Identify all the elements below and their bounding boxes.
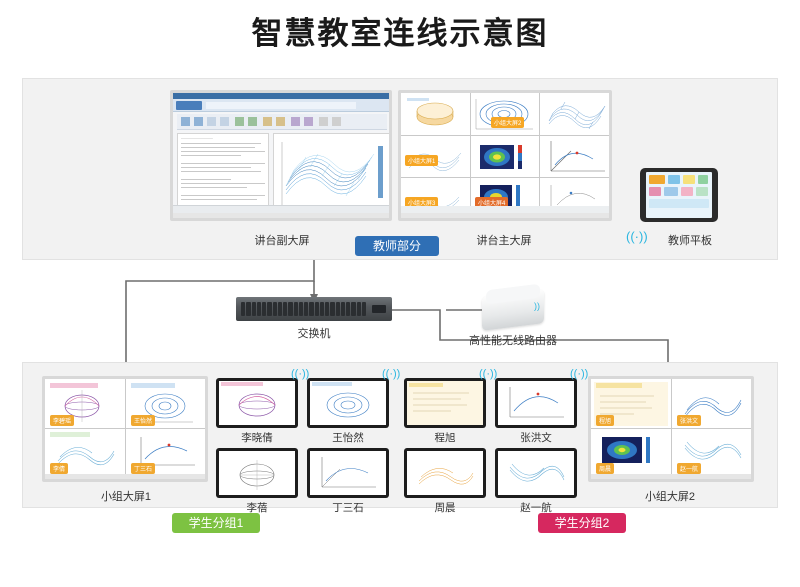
student-label-4: 丁三石 xyxy=(307,500,389,515)
student-label-1: 李晓倩 xyxy=(216,430,298,445)
group1-big-screen[interactable]: 李碧瑶 王怡然 xyxy=(42,376,208,482)
group1-big-screen-caption: 小组大屏1 xyxy=(78,488,174,504)
group1-tile-name-1: 李碧瑶 xyxy=(50,415,74,426)
group2-tile-name-1: 程旭 xyxy=(596,415,614,426)
switch-ports xyxy=(241,302,366,316)
teacher-tablet-caption: 教师平板 xyxy=(650,232,730,248)
student-monitor-zhouchen[interactable] xyxy=(404,448,486,498)
podium-tile-label-1: 小组大屏1 xyxy=(405,155,438,166)
wifi-icon-student-6: ((·)) xyxy=(570,369,588,380)
student-monitor-wangyiran[interactable] xyxy=(307,378,389,428)
wifi-icon-router: )) xyxy=(534,301,540,311)
group2-tile-name-3: 周晨 xyxy=(596,463,614,474)
student-monitor-libei[interactable] xyxy=(216,448,298,498)
podium-secondary-screen-caption: 讲台副大屏 xyxy=(230,232,334,248)
teacher-tablet[interactable] xyxy=(640,168,718,222)
podium-main-screen-caption: 讲台主大屏 xyxy=(452,232,556,248)
group2-big-screen[interactable]: 程旭 张洪文 周晨 xyxy=(588,376,754,482)
podium-secondary-screen[interactable]: ─────────────── xyxy=(170,90,392,221)
page-title: 智慧教室连线示意图 xyxy=(0,8,800,53)
switch-label: 交换机 xyxy=(272,325,356,341)
group2-tile-name-4: 赵一航 xyxy=(677,463,701,474)
podium-main-screen[interactable]: 小组大屏1 xyxy=(398,90,612,221)
group2-big-screen-caption: 小组大屏2 xyxy=(622,488,718,504)
student-label-6: 张洪文 xyxy=(495,430,577,445)
diagram-root: 智慧教室连线示意图 xyxy=(0,0,800,587)
student-label-2: 王怡然 xyxy=(307,430,389,445)
wireless-router[interactable]: )) xyxy=(482,287,544,329)
podium-tile-label-2: 小组大屏2 xyxy=(491,117,524,128)
group1-tile-name-4: 丁三石 xyxy=(131,463,155,474)
wifi-icon-student-2: ((·)) xyxy=(382,369,400,380)
router-label: 高性能无线路由器 xyxy=(455,332,571,348)
student-monitor-zhanghongwen[interactable] xyxy=(495,378,577,428)
student-monitor-dingsanshi[interactable] xyxy=(307,448,389,498)
network-switch[interactable] xyxy=(236,297,392,321)
student-monitor-chengxu[interactable] xyxy=(404,378,486,428)
group1-tile-name-3: 李倩 xyxy=(50,463,68,474)
group2-tile-name-2: 张洪文 xyxy=(677,415,701,426)
teacher-section-badge: 教师部分 xyxy=(355,236,439,256)
student-label-7: 周晨 xyxy=(404,500,486,515)
student-monitor-lixiaoqian[interactable] xyxy=(216,378,298,428)
group2-badge: 学生分组2 xyxy=(538,513,626,533)
group1-badge: 学生分组1 xyxy=(172,513,260,533)
group1-tile-name-2: 王怡然 xyxy=(131,415,155,426)
student-monitor-zhaoyihang[interactable] xyxy=(495,448,577,498)
student-label-5: 程旭 xyxy=(404,430,486,445)
wifi-icon-tablet: ((·)) xyxy=(626,230,648,243)
